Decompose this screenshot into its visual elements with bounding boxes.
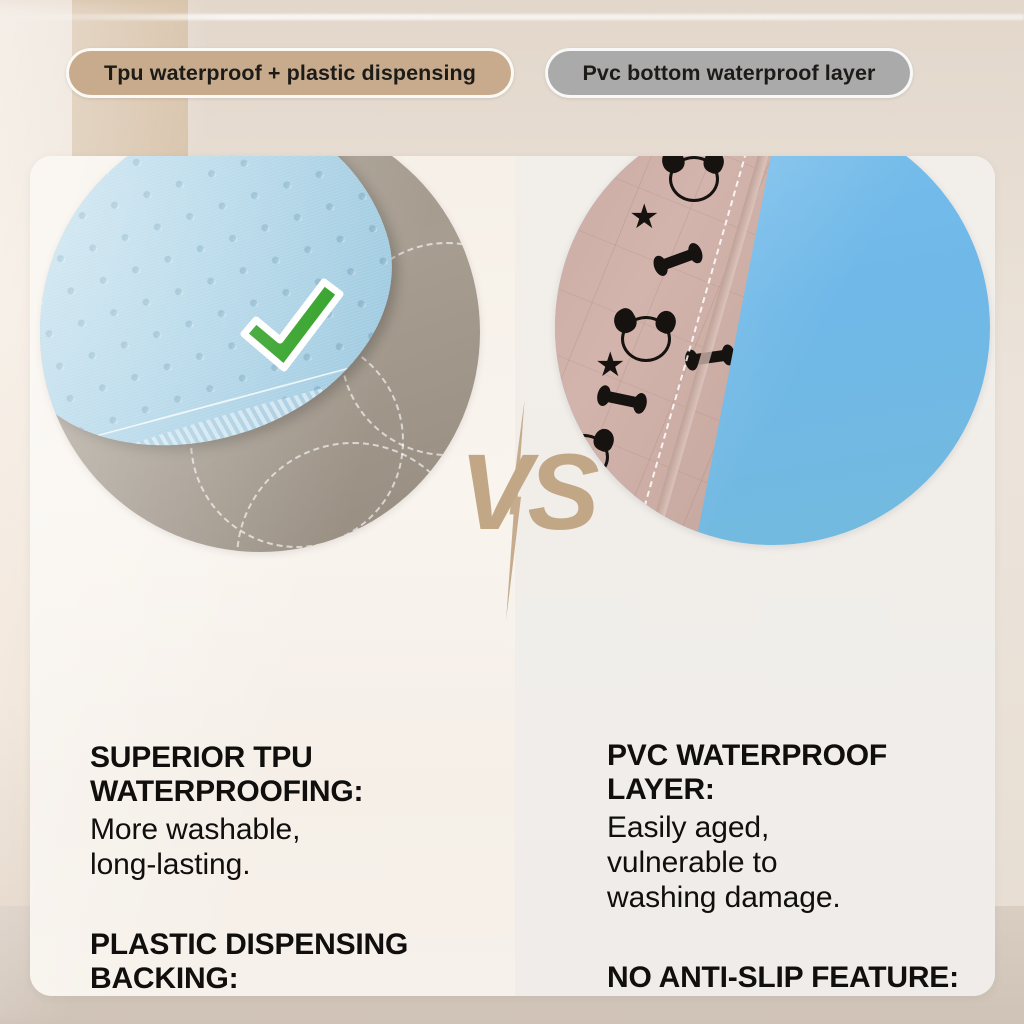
right-feature-list: PVC WATERPROOF LAYER: Easily aged, vulne… [607, 739, 995, 996]
spacer [607, 915, 995, 961]
left-feature-list: SUPERIOR TPU WATERPROOFING: More washabl… [90, 741, 510, 996]
versus-graphic: VS [440, 400, 615, 620]
star-motif-icon: ★ [595, 348, 625, 382]
green-check-icon [236, 272, 346, 382]
dog-motif-icon [621, 316, 671, 362]
product-photo-tpu [40, 156, 480, 552]
versus-label: VS [440, 438, 615, 546]
left-block-1-heading: SUPERIOR TPU WATERPROOFING: [90, 741, 510, 808]
right-block-1-heading: PVC WATERPROOF LAYER: [607, 739, 995, 806]
left-block-2-heading: PLASTIC DISPENSING BACKING: [90, 928, 510, 995]
badge-pvc-bottom-layer: Pvc bottom waterproof layer [545, 48, 913, 98]
right-block-2-heading: NO ANTI-SLIP FEATURE: [607, 961, 995, 995]
badge-tpu-waterproof: Tpu waterproof + plastic dispensing [66, 48, 514, 98]
product-photo-pvc: ★ ★ X [555, 156, 990, 545]
infographic-canvas: Tpu waterproof + plastic dispensing Pvc … [0, 0, 1024, 1024]
right-block-1-body: Easily aged, vulnerable to washing damag… [607, 810, 995, 915]
star-motif-icon: ★ [629, 200, 659, 234]
left-block-1-body: More washable, long-lasting. [90, 812, 510, 882]
spacer [90, 882, 510, 928]
dog-motif-icon [669, 156, 719, 202]
